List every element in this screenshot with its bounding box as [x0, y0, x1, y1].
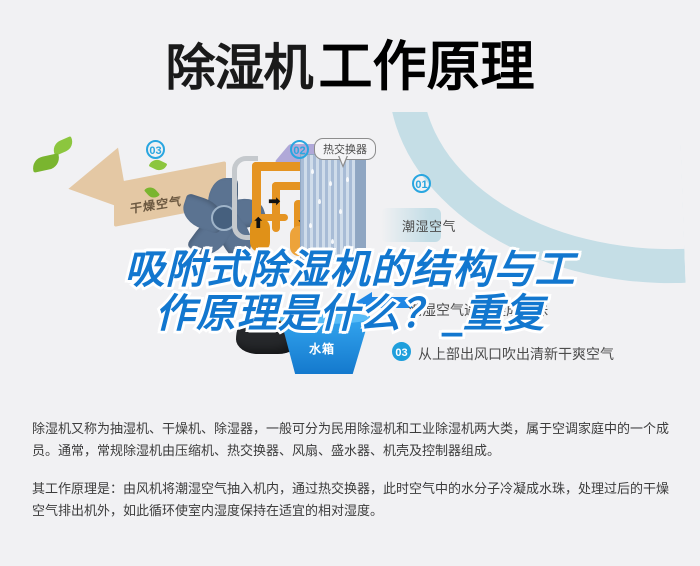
- heat-exchanger-callout-stem: [338, 156, 348, 168]
- water-tank-label: 水箱: [274, 340, 370, 357]
- step-badge-03-top: 03: [146, 140, 165, 159]
- flow-arrow-up-icon: ⬆: [252, 216, 265, 231]
- humid-air-label: 潮湿空气: [402, 216, 456, 235]
- step-02-caption: 潮湿空气遇冷凝成水珠: [408, 300, 548, 320]
- article-paragraph-1: 除湿机又称为抽湿机、干燥机、除湿器，一般可分为民用除湿机和工业除湿机两大类，属于…: [32, 418, 670, 462]
- water-tank: 水箱: [274, 316, 370, 376]
- infographic-page: 除湿机工作原理 干燥空气: [0, 0, 700, 566]
- condensation-droplet: [329, 181, 332, 186]
- water-tank-rim: [276, 312, 370, 324]
- condensation-droplet: [339, 209, 342, 214]
- flow-arrow-right-icon: ➡: [268, 194, 281, 209]
- condensation-droplet: [309, 223, 312, 228]
- page-title: 除湿机工作原理: [0, 22, 700, 101]
- condensation-droplet: [331, 239, 334, 244]
- air-intake-arrow: [356, 292, 412, 312]
- page-title-part-1: 除湿机: [166, 39, 313, 97]
- heat-exchanger-fins: [300, 154, 356, 260]
- leaf-icon: [31, 153, 61, 173]
- step-badge-01: 01: [412, 174, 431, 193]
- heat-exchanger: [300, 154, 360, 264]
- page-title-part-2: 工作原理: [319, 35, 535, 98]
- step-03-caption: 从上部出风口吹出清新干爽空气: [418, 344, 614, 364]
- humid-air-swoosh: [388, 112, 685, 293]
- step-badge-03-bottom: 03: [392, 342, 411, 361]
- condensation-droplet: [346, 177, 349, 182]
- article-paragraph-2: 其工作原理是：由风机将潮湿空气抽入机内，通过热交换器，此时空气中的水分子冷凝成水…: [32, 478, 670, 522]
- article-body: 除湿机又称为抽湿机、干燥机、除湿器，一般可分为民用除湿机和工业除湿机两大类，属于…: [32, 418, 670, 538]
- step-badge-02: 02: [290, 140, 309, 159]
- condensation-droplet: [318, 199, 321, 204]
- dehumidifier-diagram: 干燥空气 ➡ ⬆ ⬇: [0, 112, 700, 400]
- air-intake-arrow-shaft: [370, 297, 412, 308]
- condensation-droplet: [311, 169, 314, 174]
